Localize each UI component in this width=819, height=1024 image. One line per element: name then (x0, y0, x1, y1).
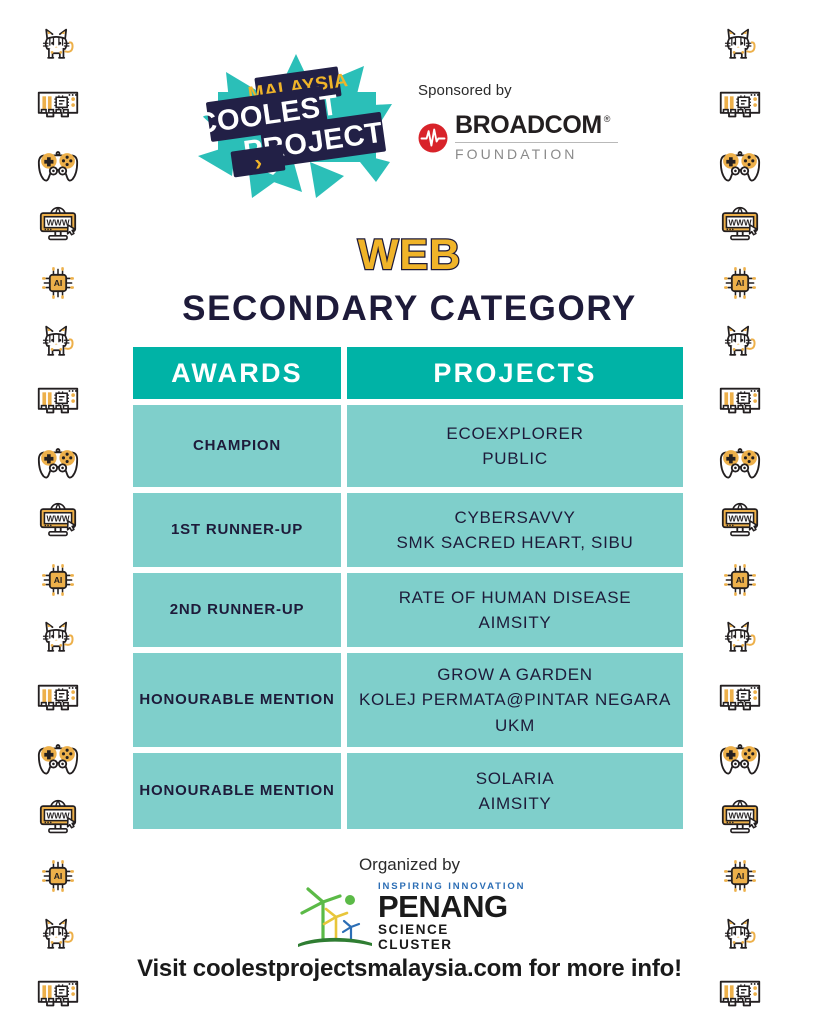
project-entry: CYBERSAVVY SMK SACRED HEART, SIBU (347, 493, 683, 567)
table-row: HONOURABLE MENTION SOLARIA AIMSITY (133, 753, 683, 829)
cat-icon (700, 613, 780, 665)
table-header-row: AWARDS PROJECTS (133, 347, 683, 399)
svg-text:WWW: WWW (728, 515, 751, 524)
circuit-board-icon (700, 672, 780, 724)
category-title: WEB (0, 231, 819, 280)
project-entry: RATE OF HUMAN DISEASE AIMSITY (347, 573, 683, 647)
www-monitor-icon: WWW (700, 494, 780, 546)
award-label: CHAMPION (133, 405, 341, 487)
www-monitor-icon: WWW (18, 791, 98, 843)
gamepad-icon (700, 435, 780, 487)
svg-text:WWW: WWW (728, 218, 751, 227)
award-label: HONOURABLE MENTION (133, 653, 341, 747)
award-label: 2ND RUNNER-UP (133, 573, 341, 647)
penang-science-cluster-logo: INSPIRING INNOVATION PENANG SCIENCE CLUS… (296, 886, 528, 948)
svg-text:WWW: WWW (46, 515, 69, 524)
svg-text:AI: AI (736, 575, 745, 585)
project-entry: SOLARIA AIMSITY (347, 753, 683, 829)
results-table: AWARDS PROJECTS CHAMPION ECOEXPLORER PUB… (133, 347, 683, 835)
award-label: 1ST RUNNER-UP (133, 493, 341, 567)
organized-by-label: Organized by (0, 855, 819, 875)
project-org: PUBLIC (446, 446, 583, 472)
svg-text:WWW: WWW (46, 218, 69, 227)
column-header-awards: AWARDS (133, 347, 341, 399)
broadcom-logo: BROADCOM® FOUNDATION (418, 113, 668, 162)
cat-icon (700, 910, 780, 962)
svg-text:WWW: WWW (728, 811, 751, 820)
broadcom-divider (455, 142, 618, 143)
circuit-board-icon (18, 672, 98, 724)
penang-subtitle: SCIENCE CLUSTER (378, 923, 528, 953)
svg-text:AI: AI (54, 575, 63, 585)
broadcom-pulse-icon (418, 123, 448, 153)
project-org: KOLEJ PERMATA@PINTAR NEGARA UKM (355, 687, 675, 738)
penang-wordmark: PENANG (378, 891, 528, 923)
windmill-icon (296, 886, 374, 948)
table-row: 2ND RUNNER-UP RATE OF HUMAN DISEASE AIMS… (133, 573, 683, 647)
project-name: RATE OF HUMAN DISEASE (399, 585, 632, 611)
cat-icon (18, 613, 98, 665)
project-entry: ECOEXPLORER PUBLIC (347, 405, 683, 487)
project-org: AIMSITY (399, 610, 632, 636)
project-name: CYBERSAVVY (396, 505, 633, 531)
project-name: SOLARIA (476, 766, 555, 792)
poster: WWW AI (0, 0, 819, 1024)
project-name: ECOEXPLORER (446, 421, 583, 447)
coolest-projects-logo: MALAYSIA COOLEST PROJECTS › (196, 52, 396, 200)
cat-icon (18, 910, 98, 962)
www-monitor-icon: WWW (700, 791, 780, 843)
sponsored-by-label: Sponsored by (418, 82, 668, 99)
project-entry: GROW A GARDEN KOLEJ PERMATA@PINTAR NEGAR… (347, 653, 683, 747)
column-header-projects: PROJECTS (347, 347, 683, 399)
gamepad-icon (700, 732, 780, 784)
table-row: CHAMPION ECOEXPLORER PUBLIC (133, 405, 683, 487)
table-row: 1ST RUNNER-UP CYBERSAVVY SMK SACRED HEAR… (133, 493, 683, 567)
www-monitor-icon: WWW (18, 494, 98, 546)
sponsor-block: Sponsored by BROADCOM® FOUNDATION (418, 82, 668, 162)
gamepad-icon (18, 435, 98, 487)
gamepad-icon (18, 732, 98, 784)
poster-header: MALAYSIA COOLEST PROJECTS › Sponsored by (0, 0, 819, 210)
svg-text:WWW: WWW (46, 811, 69, 820)
ai-chip-icon: AI (700, 554, 780, 606)
project-org: SMK SACRED HEART, SIBU (396, 530, 633, 556)
broadcom-foundation-label: FOUNDATION (455, 146, 618, 162)
page-title: SECONDARY CATEGORY (0, 289, 819, 329)
project-org: AIMSITY (476, 791, 555, 817)
award-label: HONOURABLE MENTION (133, 753, 341, 829)
table-row: HONOURABLE MENTION GROW A GARDEN KOLEJ P… (133, 653, 683, 747)
project-name: GROW A GARDEN (355, 662, 675, 688)
ai-chip-icon: AI (18, 554, 98, 606)
circuit-board-icon (700, 376, 780, 428)
visit-website-text: Visit coolestprojectsmalaysia.com for mo… (0, 955, 819, 983)
circuit-board-icon (18, 376, 98, 428)
broadcom-wordmark: BROADCOM® (455, 113, 618, 138)
